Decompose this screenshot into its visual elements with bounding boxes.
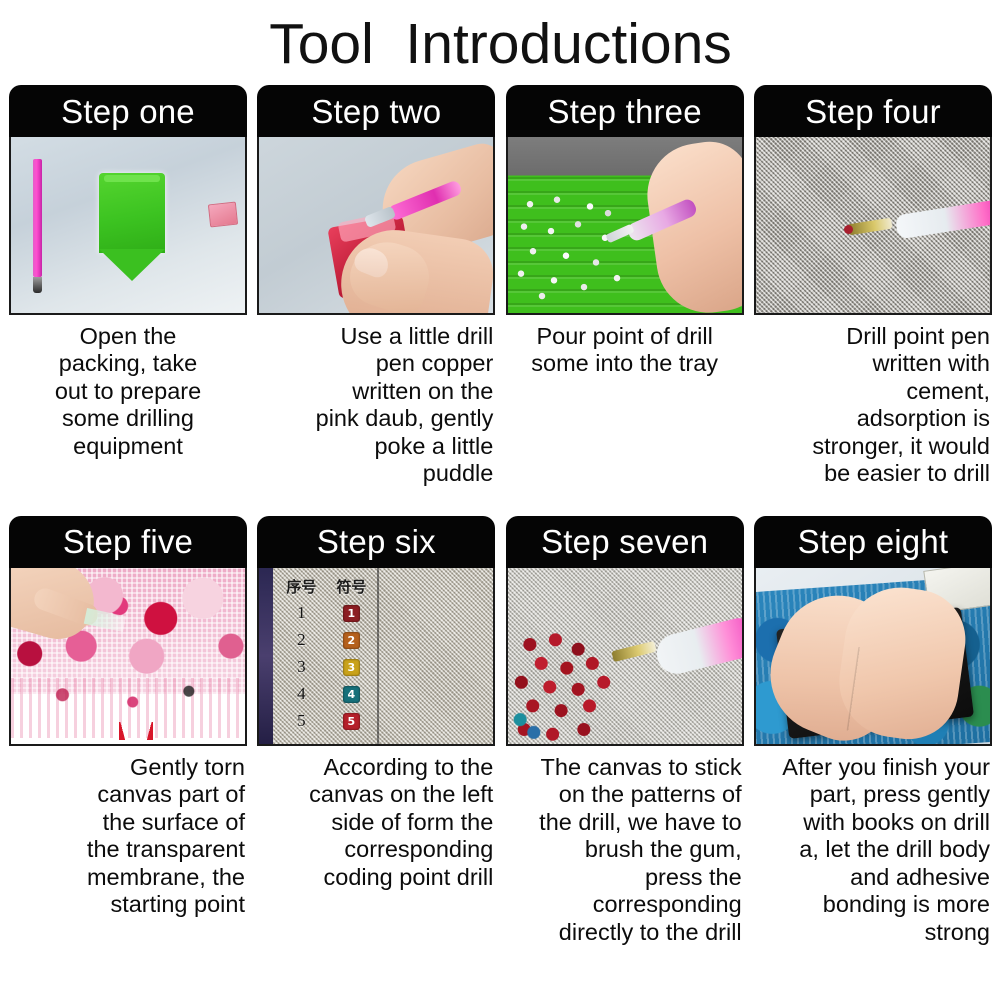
- teal-drills-icon: [510, 710, 544, 742]
- step-two-caption: Use a little drill pen copper written on…: [257, 323, 495, 488]
- step-seven-header-label: Step seven: [541, 525, 708, 558]
- legend-row: 1 1: [275, 600, 375, 627]
- green-tray-point-icon: [99, 249, 165, 281]
- legend-row: 4 4: [275, 681, 375, 708]
- legend-row: 2 2: [275, 627, 375, 654]
- step-one-header: Step one: [9, 85, 247, 137]
- step-six-header-label: Step six: [317, 525, 436, 558]
- step-two-header-label: Step two: [311, 95, 441, 128]
- step-seven-header: Step seven: [506, 516, 744, 568]
- legend-symbol-cell: 5: [327, 713, 375, 730]
- legend-symbol-chip: 1: [343, 605, 360, 622]
- legend-serial-value: 1: [275, 603, 327, 623]
- legend-symbol-chip: 5: [343, 713, 360, 730]
- legend-symbol-cell: 2: [327, 632, 375, 649]
- loose-drills-icon: [512, 193, 662, 305]
- legend-symbol-cell: 4: [327, 686, 375, 703]
- step-six-header: Step six: [257, 516, 495, 568]
- steps-row-bottom: Step five Gently torn canvas part of the…: [0, 516, 1001, 946]
- step-two-image: [257, 137, 495, 315]
- legend-serial-value: 5: [275, 711, 327, 731]
- step-card-five[interactable]: Step five Gently torn canvas part of the…: [9, 516, 247, 919]
- legend-column-serial: 序号: [275, 576, 327, 597]
- step-six-image: 序号 符号 1 1 2 2: [257, 568, 495, 746]
- step-three-caption: Pour point of drill some into the tray: [506, 323, 744, 378]
- step-four-caption: Drill point pen written with cement, ads…: [754, 323, 992, 488]
- step-one-image: [9, 137, 247, 315]
- drill-pen-tip-icon: [33, 277, 42, 293]
- step-four-header-label: Step four: [805, 95, 941, 128]
- legend-symbol-cell: 1: [327, 605, 375, 622]
- step-one-header-label: Step one: [61, 95, 195, 128]
- step-seven-image: [506, 568, 744, 746]
- step-five-caption: Gently torn canvas part of the surface o…: [9, 754, 247, 919]
- step-card-seven[interactable]: Step seven The canvas to stick on the pa…: [506, 516, 744, 946]
- legend-symbol-chip: 2: [343, 632, 360, 649]
- step-card-four[interactable]: Step four Drill point pen written with c…: [754, 85, 992, 488]
- legend-serial-value: 4: [275, 684, 327, 704]
- step-card-six[interactable]: Step six 序号 符号 1 1: [257, 516, 495, 891]
- drill-pen-icon: [33, 159, 42, 277]
- step-eight-caption: After you finish your part, press gently…: [754, 754, 992, 946]
- step-seven-caption: The canvas to stick on the patterns of t…: [506, 754, 744, 946]
- legend-symbol-chip: 4: [343, 686, 360, 703]
- step-eight-image: [754, 568, 992, 746]
- step-three-header-label: Step three: [548, 95, 702, 128]
- legend-table: 序号 符号 1 1 2 2: [275, 574, 375, 742]
- step-card-two[interactable]: Step two Use a little drill pen copper w…: [257, 85, 495, 488]
- legend-symbol-chip: 3: [343, 659, 360, 676]
- tool-introductions-page: Tool Introductions Step one Open the pac…: [0, 0, 1001, 1001]
- step-six-caption: According to the canvas on the left side…: [257, 754, 495, 891]
- steps-row-top: Step one Open the packing, take out to p…: [0, 85, 1001, 488]
- step-five-image: [9, 568, 247, 746]
- legend-row: 5 5: [275, 708, 375, 735]
- step-card-one[interactable]: Step one Open the packing, take out to p…: [9, 85, 247, 460]
- cement-dot-icon: [844, 225, 853, 234]
- legend-serial-value: 3: [275, 657, 327, 677]
- red-accent-icon: [119, 722, 153, 740]
- pink-wax-icon: [208, 202, 238, 228]
- step-eight-header: Step eight: [754, 516, 992, 568]
- step-four-image: [754, 137, 992, 315]
- legend-header-row: 序号 符号: [275, 574, 375, 600]
- fingers-icon: [847, 647, 962, 745]
- canvas-edge-icon: [259, 568, 273, 744]
- step-five-header: Step five: [9, 516, 247, 568]
- step-card-eight[interactable]: Step eight After you finish your part, p…: [754, 516, 992, 946]
- step-four-header: Step four: [754, 85, 992, 137]
- step-one-caption: Open the packing, take out to prepare so…: [9, 323, 247, 460]
- step-card-three[interactable]: Step three Pour point of drill some into…: [506, 85, 744, 378]
- green-tray-icon: [99, 173, 165, 253]
- green-tray-lip-icon: [104, 175, 160, 182]
- step-three-header: Step three: [506, 85, 744, 137]
- legend-divider: [377, 568, 379, 744]
- legend-column-symbol: 符号: [327, 576, 375, 597]
- legend-symbol-cell: 3: [327, 659, 375, 676]
- step-eight-header-label: Step eight: [798, 525, 949, 558]
- legend-row: 3 3: [275, 654, 375, 681]
- page-title: Tool Introductions: [0, 0, 1001, 83]
- step-five-header-label: Step five: [63, 525, 193, 558]
- step-two-header: Step two: [257, 85, 495, 137]
- legend-serial-value: 2: [275, 630, 327, 650]
- step-three-image: [506, 137, 744, 315]
